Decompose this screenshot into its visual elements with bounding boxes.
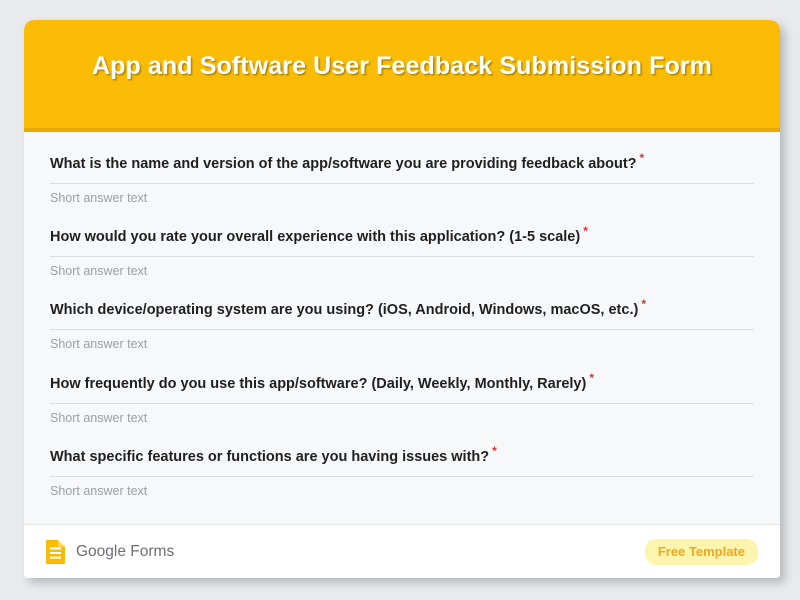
answer-placeholder: Short answer text: [50, 483, 754, 499]
short-answer-field[interactable]: Short answer text: [50, 256, 754, 279]
screenshot-stage: App and Software User Feedback Submissio…: [0, 0, 800, 600]
required-asterisk: *: [641, 297, 646, 311]
required-asterisk: *: [640, 151, 645, 165]
form-footer: Google Forms Free Template: [24, 524, 780, 578]
answer-placeholder: Short answer text: [50, 263, 754, 279]
google-forms-brand[interactable]: Google Forms: [46, 540, 174, 564]
short-answer-field[interactable]: Short answer text: [50, 403, 754, 426]
form-title: App and Software User Feedback Submissio…: [92, 52, 712, 82]
question-item: Which device/operating system are you us…: [50, 298, 754, 352]
question-item: What specific features or functions are …: [50, 445, 754, 499]
short-answer-field[interactable]: Short answer text: [50, 183, 754, 206]
required-asterisk: *: [589, 371, 594, 385]
question-item: What is the name and version of the app/…: [50, 152, 754, 206]
required-asterisk: *: [492, 444, 497, 458]
brand-name-label: Google Forms: [76, 544, 174, 560]
free-template-badge[interactable]: Free Template: [645, 539, 758, 565]
question-item: How frequently do you use this app/softw…: [50, 372, 754, 426]
answer-placeholder: Short answer text: [50, 410, 754, 426]
question-label: How frequently do you use this app/softw…: [50, 372, 754, 393]
required-asterisk: *: [583, 224, 588, 238]
question-label-text: Which device/operating system are you us…: [50, 302, 638, 318]
question-label: How would you rate your overall experien…: [50, 225, 754, 246]
form-header: App and Software User Feedback Submissio…: [24, 20, 780, 132]
question-label: Which device/operating system are you us…: [50, 298, 754, 319]
form-question-list: What is the name and version of the app/…: [24, 132, 780, 524]
question-label-text: How frequently do you use this app/softw…: [50, 375, 586, 391]
short-answer-field[interactable]: Short answer text: [50, 476, 754, 499]
short-answer-field[interactable]: Short answer text: [50, 329, 754, 352]
answer-placeholder: Short answer text: [50, 190, 754, 206]
google-forms-icon: [46, 540, 65, 564]
question-label: What is the name and version of the app/…: [50, 152, 754, 173]
form-card: App and Software User Feedback Submissio…: [24, 20, 780, 578]
question-item: How would you rate your overall experien…: [50, 225, 754, 279]
question-label-text: What is the name and version of the app/…: [50, 156, 637, 172]
answer-placeholder: Short answer text: [50, 336, 754, 352]
question-label-text: How would you rate your overall experien…: [50, 229, 580, 245]
question-label: What specific features or functions are …: [50, 445, 754, 466]
question-label-text: What specific features or functions are …: [50, 449, 489, 465]
